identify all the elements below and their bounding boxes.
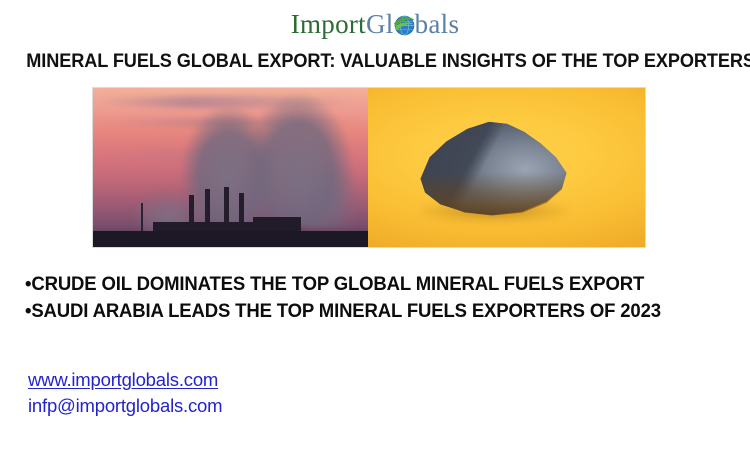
power-plant-smokestacks-photo — [93, 88, 368, 247]
website-link[interactable]: www.importglobals.com — [28, 367, 222, 393]
globe-icon — [394, 9, 415, 30]
smoke-plume — [243, 94, 353, 226]
brand-logo-import-word: Import — [291, 9, 366, 39]
key-insights-list: •CRUDE OIL DOMINATES THE TOP GLOBAL MINE… — [25, 271, 750, 325]
coal-mineral-rock-photo — [368, 88, 645, 247]
ground-silhouette — [93, 231, 368, 247]
contact-block: www.importglobals.com infp@importglobals… — [28, 367, 222, 419]
brand-logo[interactable]: ImportGl bals — [0, 6, 750, 46]
list-item: •SAUDI ARABIA LEADS THE TOP MINERAL FUEL… — [25, 298, 714, 325]
email-address[interactable]: infp@importglobals.com — [28, 393, 222, 419]
poster-canvas: ImportGl bals MINERAL FUELS GLOBAL EXPOR… — [0, 0, 750, 450]
list-item: •CRUDE OIL DOMINATES THE TOP GLOBAL MINE… — [25, 271, 714, 298]
brand-logo-gl-prefix: Gl — [366, 9, 394, 39]
brand-logo-text: ImportGl bals — [291, 6, 460, 42]
page-title: MINERAL FUELS GLOBAL EXPORT: VALUABLE IN… — [26, 50, 724, 73]
image-panel — [93, 88, 645, 247]
power-pylon — [141, 203, 143, 233]
brand-logo-bals-suffix: bals — [415, 9, 460, 39]
